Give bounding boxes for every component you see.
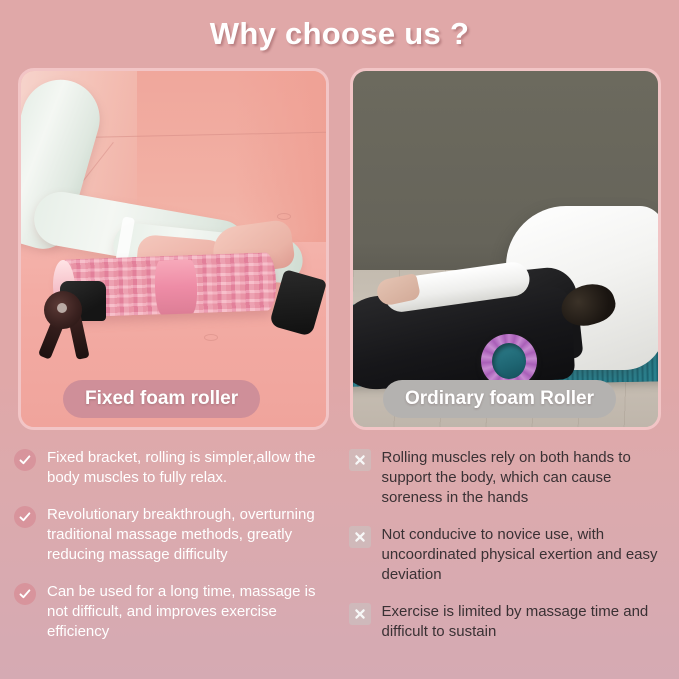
- card-fixed-foam-roller[interactable]: Fixed foam roller: [18, 68, 329, 430]
- list-item: Can be used for a long time, massage is …: [14, 582, 331, 642]
- list-item: Exercise is limited by massage time and …: [349, 602, 666, 642]
- check-icon: [14, 506, 36, 528]
- check-icon: [14, 583, 36, 605]
- cross-icon: [349, 603, 371, 625]
- card-label-fixed-foam-roller: Fixed foam roller: [63, 380, 260, 418]
- list-item: Fixed bracket, rolling is simpler,allow …: [14, 448, 331, 488]
- photo-fixed-foam-roller: [21, 71, 326, 427]
- comparison-cards: Fixed foam roller Ordinary foam Roller: [18, 68, 661, 430]
- list-item-text: Not conducive to novice use, with uncoor…: [382, 525, 666, 585]
- list-item-text: Revolutionary breakthrough, overturning …: [47, 505, 331, 565]
- check-icon: [14, 449, 36, 471]
- list-item: Revolutionary breakthrough, overturning …: [14, 505, 331, 565]
- page-title: Why choose us ?: [0, 16, 679, 52]
- card-label-ordinary-foam-roller: Ordinary foam Roller: [383, 380, 616, 418]
- list-item-text: Rolling muscles rely on both hands to su…: [382, 448, 666, 508]
- card-ordinary-foam-roller[interactable]: Ordinary foam Roller: [350, 68, 661, 430]
- list-item-text: Exercise is limited by massage time and …: [382, 602, 666, 642]
- cons-column: Rolling muscles rely on both hands to su…: [349, 448, 666, 642]
- cross-icon: [349, 449, 371, 471]
- list-item-text: Fixed bracket, rolling is simpler,allow …: [47, 448, 331, 488]
- list-item: Rolling muscles rely on both hands to su…: [349, 448, 666, 508]
- pros-column: Fixed bracket, rolling is simpler,allow …: [14, 448, 331, 642]
- infographic-root: Why choose us ?: [0, 0, 679, 679]
- cross-icon: [349, 526, 371, 548]
- list-item-text: Can be used for a long time, massage is …: [47, 582, 331, 642]
- list-item: Not conducive to novice use, with uncoor…: [349, 525, 666, 585]
- comparison-lists: Fixed bracket, rolling is simpler,allow …: [14, 448, 665, 642]
- roller-stand-bracket: [42, 285, 108, 353]
- photo-ordinary-foam-roller: [353, 71, 658, 427]
